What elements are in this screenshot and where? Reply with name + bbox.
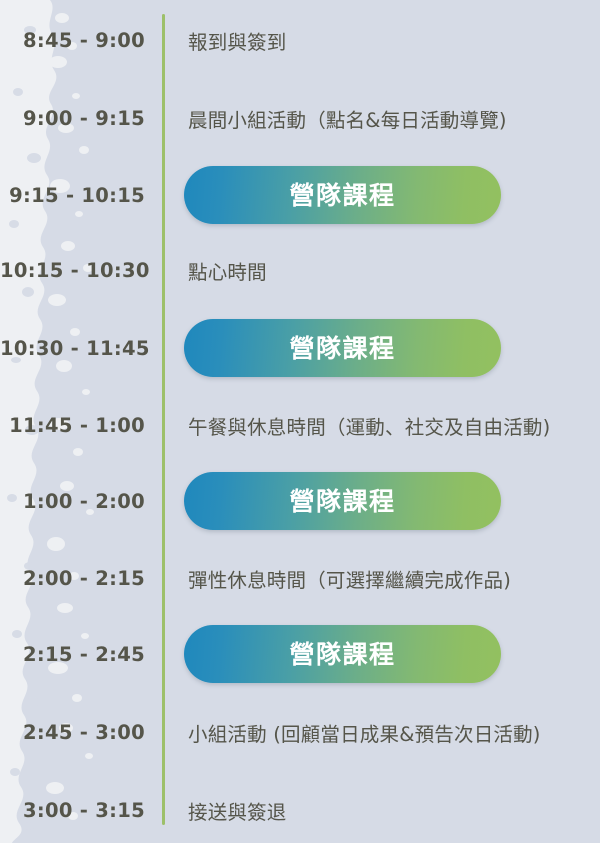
- row-content: 營隊課程: [155, 625, 600, 683]
- row-content: 營隊課程: [155, 166, 600, 224]
- row-time-label: 10:30 - 11:45: [0, 337, 155, 360]
- row-time-label: 3:00 - 3:15: [0, 799, 155, 822]
- schedule-row: 8:45 - 9:00 報到與簽到: [0, 8, 600, 72]
- daily-schedule-panel: 8:45 - 9:00 報到與簽到 9:00 - 9:15 晨間小組活動（點名&…: [0, 0, 600, 843]
- activity-label: 接送與簽退: [188, 796, 287, 825]
- row-content: 點心時間: [155, 256, 600, 285]
- row-content: 小組活動 (回顧當日成果&預告次日活動): [155, 718, 600, 747]
- row-content: 彈性休息時間（可選擇繼續完成作品): [155, 564, 600, 593]
- schedule-row: 10:15 - 10:30 點心時間: [0, 238, 600, 302]
- row-content: 午餐與休息時間（運動、社交及自由活動): [155, 411, 600, 440]
- activity-label: 小組活動 (回顧當日成果&預告次日活動): [188, 718, 541, 747]
- row-time-label: 11:45 - 1:00: [0, 414, 155, 437]
- schedule-row: 9:15 - 10:15 營隊課程: [0, 163, 600, 227]
- row-time-label: 10:15 - 10:30: [0, 259, 155, 282]
- course-session-label: 營隊課程: [289, 489, 395, 514]
- schedule-row: 11:45 - 1:00 午餐與休息時間（運動、社交及自由活動): [0, 393, 600, 457]
- row-time-label: 2:45 - 3:00: [0, 721, 155, 744]
- activity-label: 點心時間: [188, 256, 267, 285]
- schedule-row: 2:15 - 2:45 營隊課程: [0, 622, 600, 686]
- row-content: 報到與簽到: [155, 26, 600, 55]
- row-content: 營隊課程: [155, 472, 600, 530]
- row-time-label: 9:15 - 10:15: [0, 184, 155, 207]
- course-session-label: 營隊課程: [289, 642, 395, 667]
- schedule-row: 9:00 - 9:15 晨間小組活動（點名&每日活動導覽): [0, 86, 600, 150]
- row-content: 營隊課程: [155, 319, 600, 377]
- course-session-pill[interactable]: 營隊課程: [184, 472, 501, 530]
- row-content: 晨間小組活動（點名&每日活動導覽): [155, 104, 600, 133]
- row-time-label: 9:00 - 9:15: [0, 107, 155, 130]
- course-session-pill[interactable]: 營隊課程: [184, 625, 501, 683]
- schedule-row: 3:00 - 3:15 接送與簽退: [0, 778, 600, 842]
- row-time-label: 2:15 - 2:45: [0, 643, 155, 666]
- activity-label: 晨間小組活動（點名&每日活動導覽): [188, 104, 507, 133]
- row-time-label: 2:00 - 2:15: [0, 567, 155, 590]
- row-time-label: 8:45 - 9:00: [0, 29, 155, 52]
- course-session-label: 營隊課程: [289, 336, 395, 361]
- schedule-row: 2:00 - 2:15 彈性休息時間（可選擇繼續完成作品): [0, 546, 600, 610]
- schedule-row: 1:00 - 2:00 營隊課程: [0, 469, 600, 533]
- row-content: 接送與簽退: [155, 796, 600, 825]
- activity-label: 報到與簽到: [188, 26, 287, 55]
- course-session-label: 營隊課程: [289, 183, 395, 208]
- course-session-pill[interactable]: 營隊課程: [184, 319, 501, 377]
- row-time-label: 1:00 - 2:00: [0, 490, 155, 513]
- activity-label: 彈性休息時間（可選擇繼續完成作品): [188, 564, 511, 593]
- schedule-row: 10:30 - 11:45 營隊課程: [0, 316, 600, 380]
- schedule-row: 2:45 - 3:00 小組活動 (回顧當日成果&預告次日活動): [0, 700, 600, 764]
- course-session-pill[interactable]: 營隊課程: [184, 166, 501, 224]
- activity-label: 午餐與休息時間（運動、社交及自由活動): [188, 411, 550, 440]
